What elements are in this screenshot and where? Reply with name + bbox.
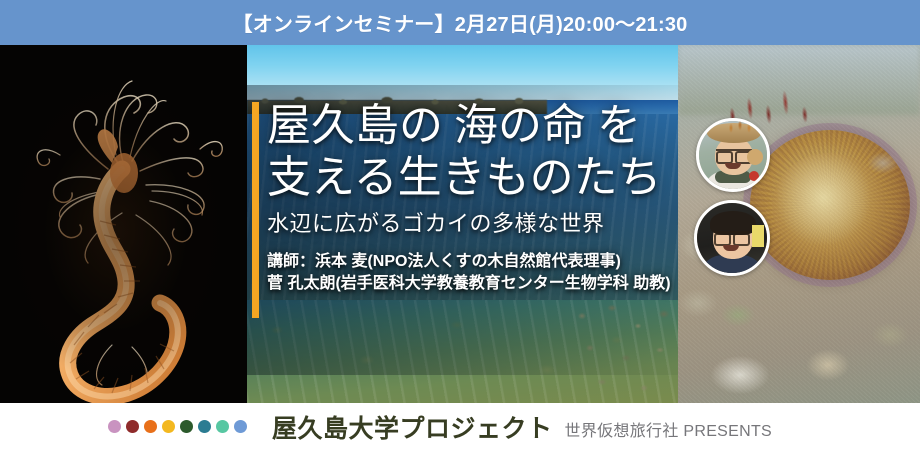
avatar-1-badge (749, 171, 759, 181)
worm-photo-panel (0, 45, 247, 403)
dot-blue (234, 420, 247, 433)
subtitle: 水辺に広がるゴカイの多様な世界 (267, 210, 678, 238)
hero-stage: 屋久島の 海の命 を 支える生きものたち 水辺に広がるゴカイの多様な世界 講師：… (0, 45, 920, 403)
seminar-schedule-text: 【オンラインセミナー】2月27日(月)20:00〜21:30 (233, 8, 688, 37)
speaker-avatar-1 (696, 118, 770, 192)
worm-photo-vignette (0, 45, 247, 403)
avatar-1-photo (699, 121, 767, 189)
shore-photo-panel: 屋久島の 海の命 を 支える生きものたち 水辺に広がるゴカイの多様な世界 講師：… (247, 45, 678, 403)
dot-mauve (108, 420, 121, 433)
dot-forest (180, 420, 193, 433)
title-line-2: 支える生きものたち (267, 152, 678, 204)
seminar-banner: 【オンラインセミナー】2月27日(月)20:00〜21:30 (0, 0, 920, 450)
project-dot-logo (108, 420, 247, 433)
dot-mint (216, 420, 229, 433)
tidepool-photo-panel (678, 45, 920, 403)
dot-orange (144, 420, 157, 433)
orange-accent-bar (252, 102, 259, 318)
headline-copy-block: 屋久島の 海の命 を 支える生きものたち 水辺に広がるゴカイの多様な世界 講師：… (267, 100, 678, 295)
avatar-2-glasses (714, 231, 750, 243)
avatar-1-specimen (747, 149, 763, 165)
speaker-avatar-2 (694, 200, 770, 276)
avatar-2-photo (697, 203, 767, 273)
dot-teal (198, 420, 211, 433)
speaker-block: 講師：浜本 麦(NPO法人くすの木自然館代表理事) 菅 孔太朗(岩手医科大学教養… (267, 251, 678, 295)
avatar-1-starfish (725, 119, 755, 135)
dot-amber (162, 420, 175, 433)
dot-darkred (126, 420, 139, 433)
speaker-line-2: 菅 孔太朗(岩手医科大学教養教育センター生物学科 助教) (267, 273, 678, 295)
title-line-1: 屋久島の 海の命 を (267, 100, 678, 152)
presenter-tagline: 世界仮想旅行社 PRESENTS (565, 413, 773, 441)
project-brand-name: 屋久島大学プロジェクト (272, 409, 553, 445)
footer-bar: 屋久島大学プロジェクト 世界仮想旅行社 PRESENTS (0, 403, 920, 450)
header-bar: 【オンラインセミナー】2月27日(月)20:00〜21:30 (0, 0, 920, 45)
avatar-2-yellow-card (752, 225, 764, 247)
speaker-line-1: 講師：浜本 麦(NPO法人くすの木自然館代表理事) (267, 251, 678, 273)
